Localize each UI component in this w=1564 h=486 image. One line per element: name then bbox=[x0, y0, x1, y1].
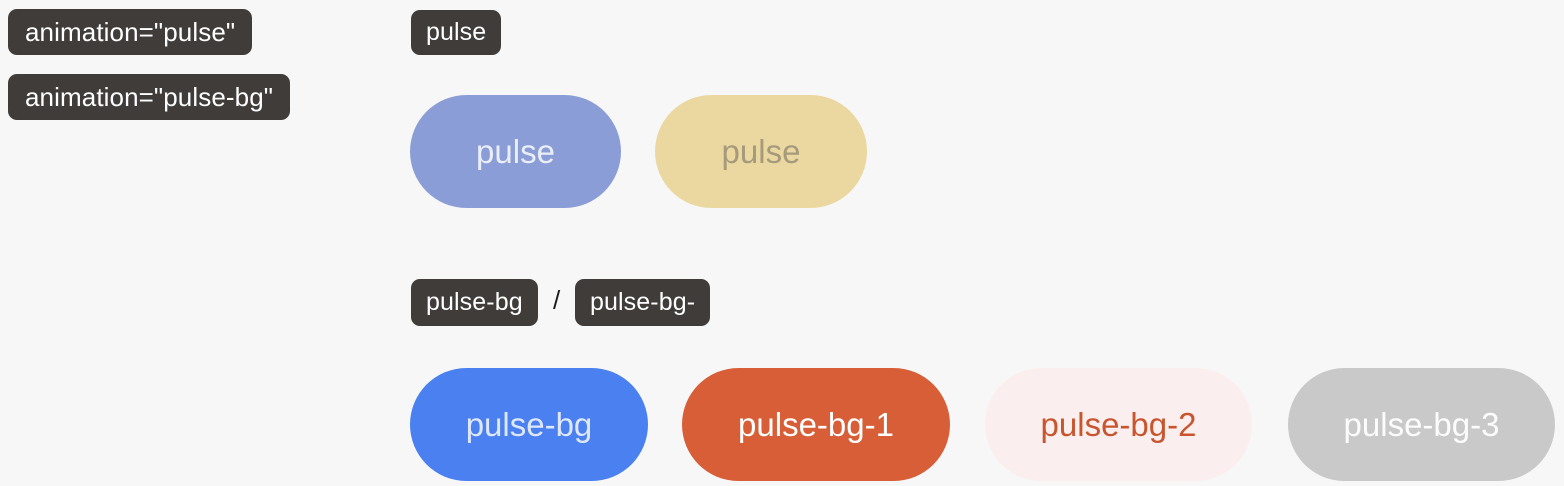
pill-pulse-blue-label: pulse bbox=[476, 133, 555, 171]
pill-pulse-bg-3[interactable]: pulse-bg-3 bbox=[1288, 368, 1555, 481]
pulse-bg-badge: pulse-bg bbox=[411, 279, 538, 326]
pill-pulse-bg-1[interactable]: pulse-bg-1 bbox=[682, 368, 950, 481]
attribute-label-animation-pulse-bg: animation="pulse-bg" bbox=[8, 74, 290, 120]
pill-pulse-bg-label: pulse-bg bbox=[466, 406, 593, 444]
pill-pulse-bg-1-label: pulse-bg-1 bbox=[738, 406, 894, 444]
attribute-label-animation-pulse: animation="pulse" bbox=[8, 9, 252, 55]
pulse-badge: pulse bbox=[411, 10, 501, 55]
pill-pulse-bg-2[interactable]: pulse-bg-2 bbox=[985, 368, 1252, 481]
pulse-bg-dash-badge: pulse-bg- bbox=[575, 279, 710, 326]
pill-pulse-bg-3-label: pulse-bg-3 bbox=[1344, 406, 1500, 444]
pill-pulse-bg[interactable]: pulse-bg bbox=[410, 368, 648, 481]
pill-pulse-blue[interactable]: pulse bbox=[410, 95, 621, 208]
pill-pulse-yellow-label: pulse bbox=[722, 133, 801, 171]
pill-pulse-yellow[interactable]: pulse bbox=[655, 95, 867, 208]
pill-pulse-bg-2-label: pulse-bg-2 bbox=[1041, 406, 1197, 444]
demo-stage: animation="pulse" animation="pulse-bg" p… bbox=[0, 0, 1564, 486]
badge-separator: / bbox=[553, 285, 560, 316]
